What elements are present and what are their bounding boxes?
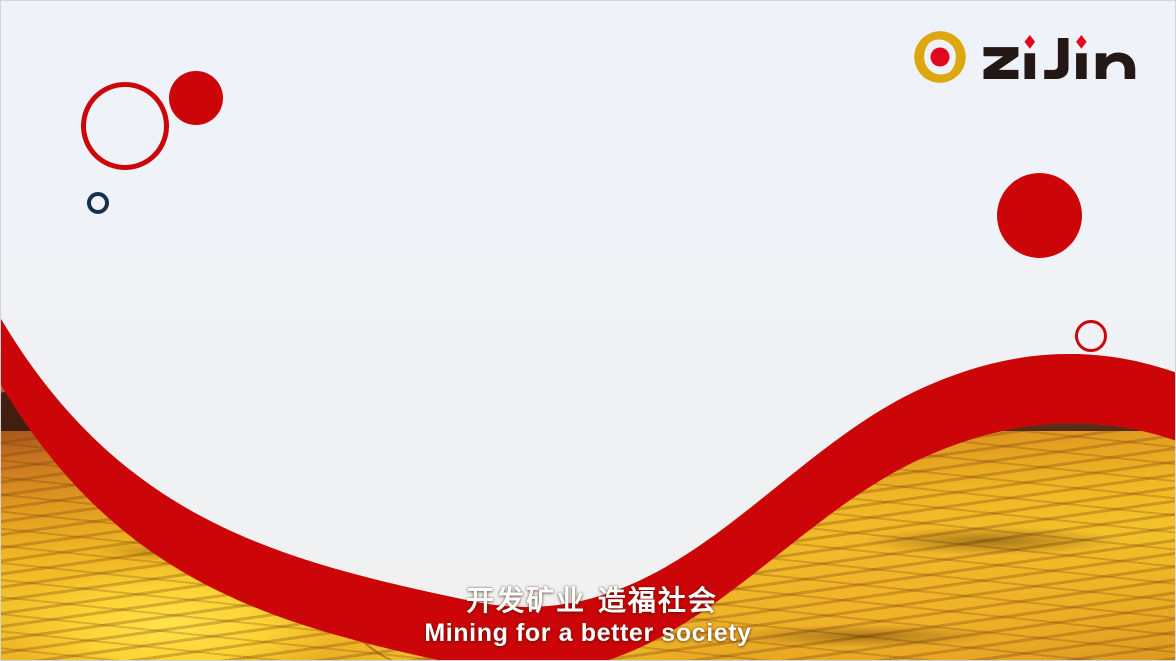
red-dot-large bbox=[169, 71, 223, 125]
red-dot-xlarge bbox=[997, 173, 1082, 258]
tagline-chinese: 开发矿业 造福社会 bbox=[9, 584, 1175, 618]
red-ring-medium bbox=[1075, 320, 1107, 352]
zijin-wordmark bbox=[982, 35, 1147, 79]
presentation-slide: 开发矿业 造福社会 Mining for a better society bbox=[0, 0, 1176, 661]
zijin-swirl-mark bbox=[912, 29, 968, 85]
zijin-logo[interactable] bbox=[912, 29, 1147, 85]
tagline: 开发矿业 造福社会 Mining for a better society bbox=[1, 584, 1175, 648]
navy-ring-small bbox=[87, 192, 109, 214]
tagline-english: Mining for a better society bbox=[1, 618, 1175, 648]
red-ring-large bbox=[81, 82, 169, 170]
